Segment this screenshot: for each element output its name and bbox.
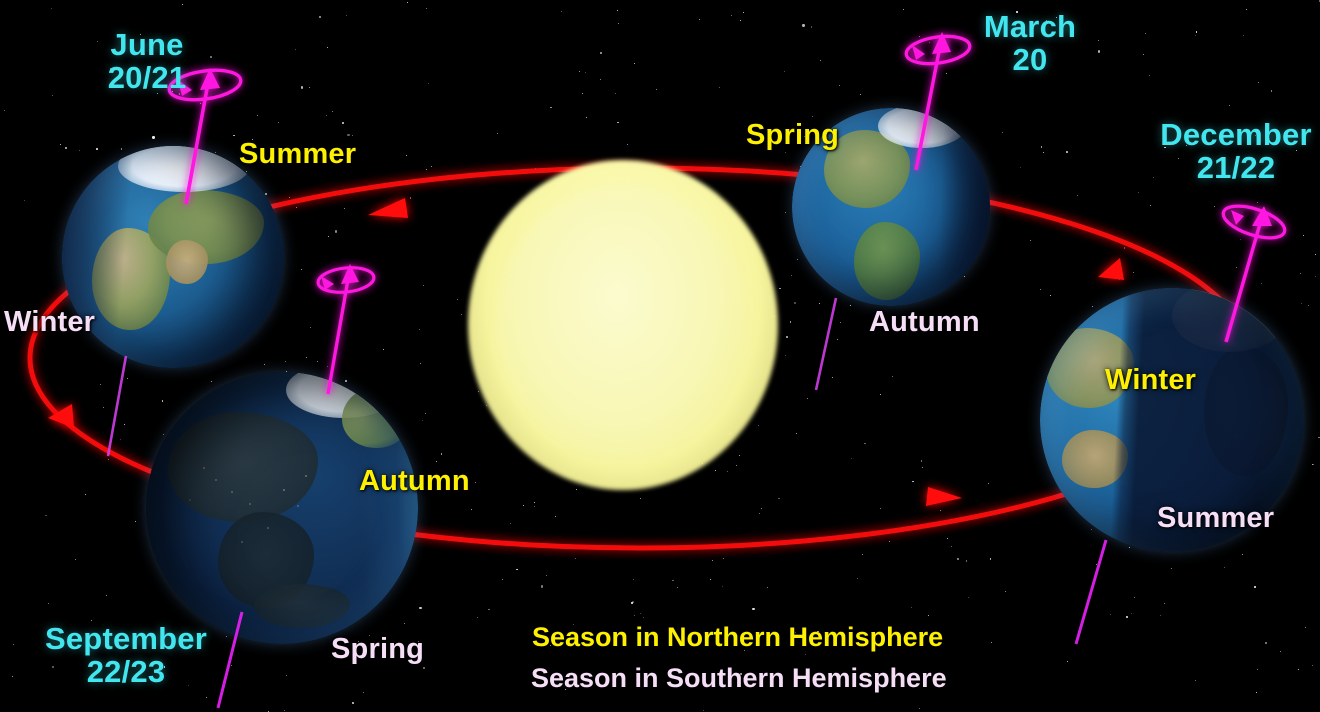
earth-atmosphere (146, 372, 418, 644)
label-march-southern-season: Autumn (869, 307, 980, 338)
label-june-southern-season: Winter (4, 307, 95, 338)
label-september-northern-season: Autumn (359, 466, 470, 497)
label-june-days: 20/21 (72, 61, 222, 94)
label-june-month: June (72, 28, 222, 61)
label-september-month: September (36, 622, 216, 655)
legend-northern-hemisphere: Season in Northern Hemisphere (532, 622, 943, 653)
label-march-date: March 20 (950, 10, 1110, 77)
label-june-date: June 20/21 (72, 28, 222, 95)
label-march-month: March (950, 10, 1110, 43)
label-september-southern-season: Spring (331, 634, 424, 665)
label-december-days: 21/22 (1160, 151, 1312, 184)
earth-september-equinox (146, 372, 418, 644)
seasons-diagram: June 20/21 Summer Winter September 22/23… (0, 0, 1320, 712)
label-december-date: December 21/22 (1160, 118, 1312, 185)
label-march-days: 20 (950, 43, 1110, 76)
sun-disc (496, 188, 748, 460)
axis-tail-december (1050, 540, 1130, 650)
legend-southern-hemisphere: Season in Southern Hemisphere (531, 663, 947, 694)
label-june-northern-season: Summer (239, 139, 356, 170)
label-december-northern-season: Winter (1105, 365, 1196, 396)
label-september-days: 22/23 (36, 655, 216, 688)
axis-arrow-september (300, 252, 420, 412)
label-december-month: December (1160, 118, 1312, 151)
axis-arrow-december (1192, 186, 1320, 366)
label-march-northern-season: Spring (746, 120, 839, 151)
label-september-date: September 22/23 (36, 622, 216, 689)
label-december-southern-season: Summer (1157, 503, 1274, 534)
axis-tail-march (796, 298, 856, 394)
